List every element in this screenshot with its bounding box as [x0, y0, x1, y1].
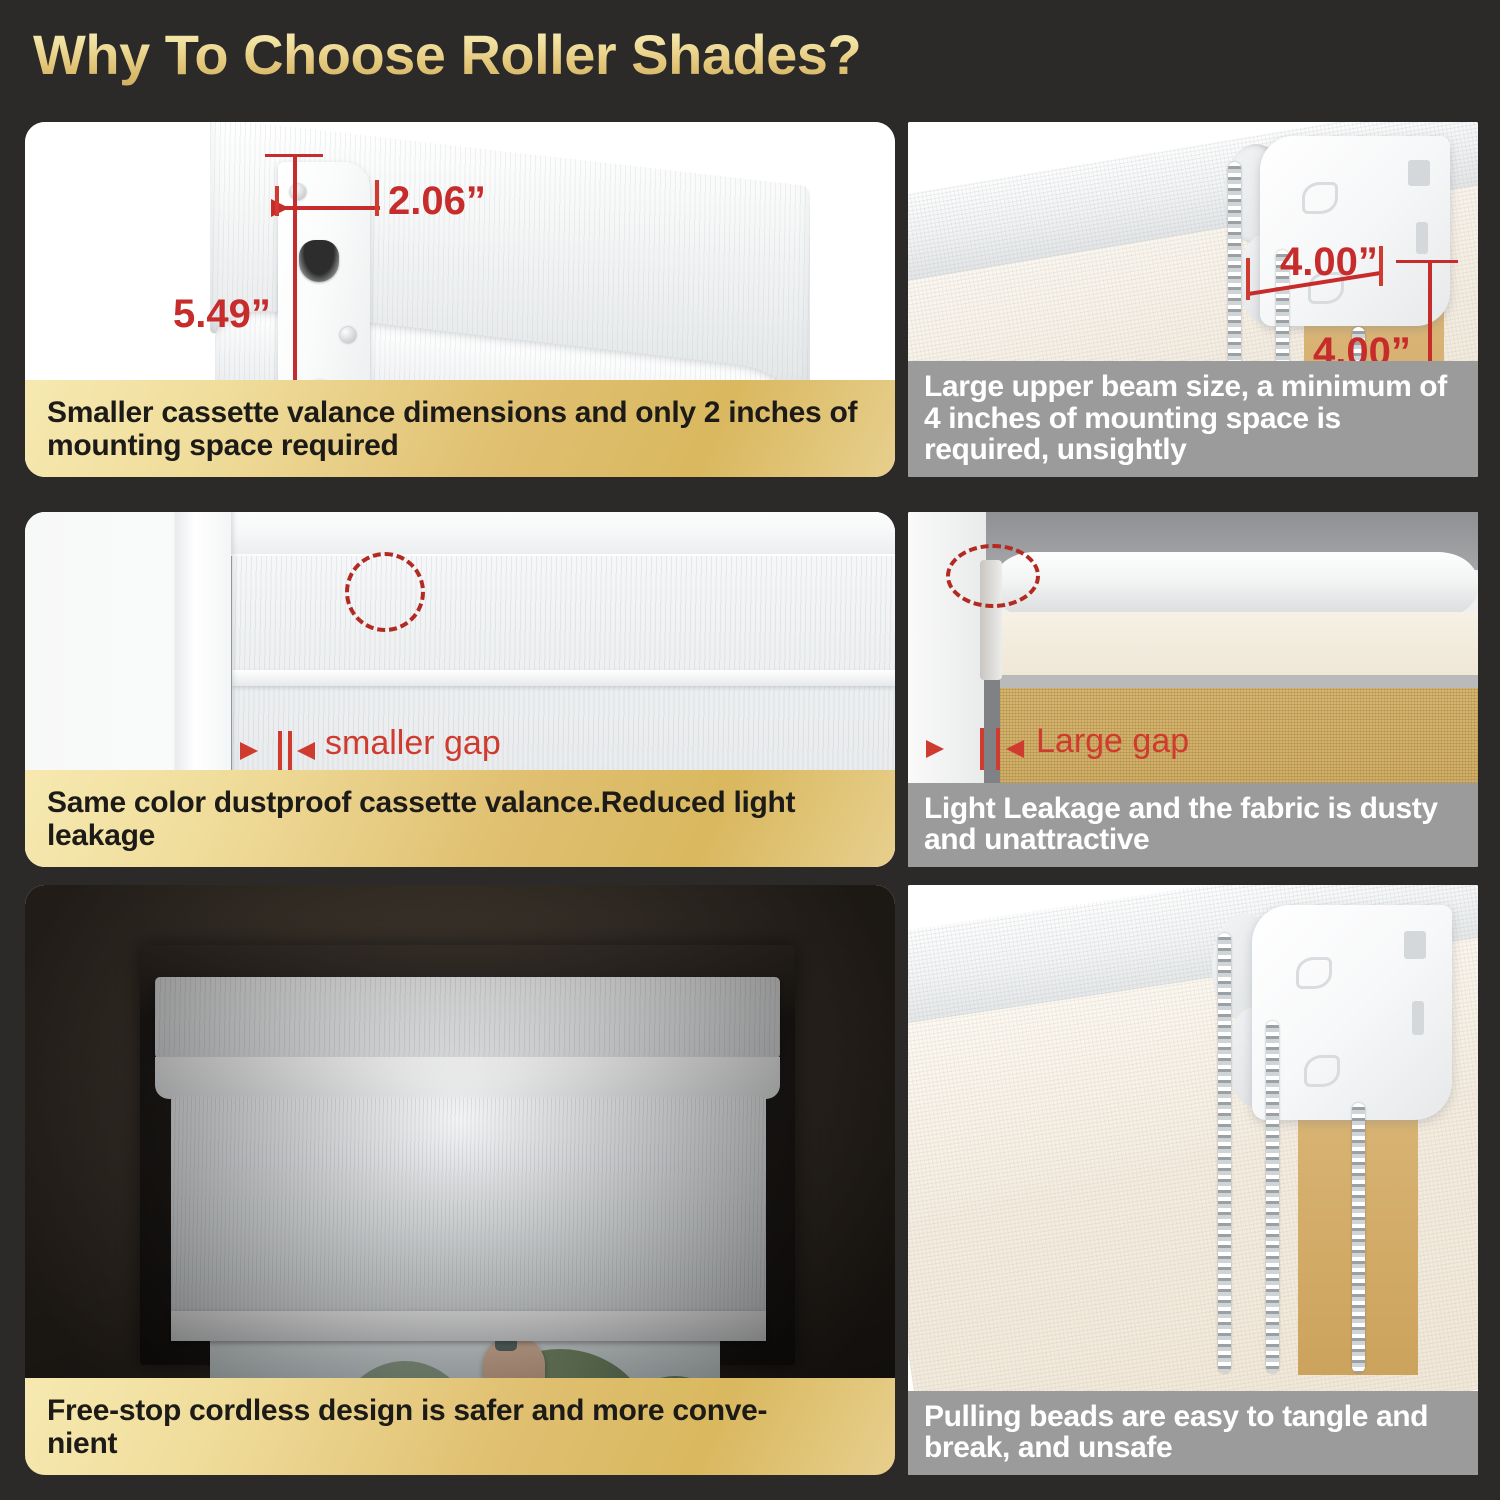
- bracket-notch-icon: [1412, 1001, 1424, 1035]
- panel-large-upper-beam: 4.00” 4.00” Large upper beam size, a min…: [908, 122, 1478, 477]
- panel-6-caption: Pulling beads are easy to tangle and bre…: [908, 1391, 1478, 1475]
- gap-tick: [996, 728, 1000, 770]
- valance-bottom-edge-graphic: [231, 670, 895, 686]
- panel-4-caption: Light Leakage and the fabric is dusty an…: [908, 783, 1478, 867]
- height-dimension-label: 5.49”: [173, 292, 271, 337]
- width-dimension-line: [275, 206, 380, 210]
- highlight-circle-icon: [946, 544, 1040, 608]
- panel-1-caption: Smaller cassette valance dimensions and …: [25, 380, 895, 477]
- gap-tick: [980, 728, 984, 770]
- width-dimension-tick: [275, 186, 279, 216]
- window-jamb-graphic: [175, 512, 231, 802]
- panel-5-caption-line1: Free-stop cordless design is safer and m…: [47, 1394, 767, 1427]
- gap-arrow-left-icon: [297, 742, 315, 760]
- cream-fabric-graphic: [998, 612, 1478, 678]
- gap-arrow-left-icon: [1006, 740, 1024, 758]
- height-dimension-tick-top: [1396, 260, 1458, 263]
- gap-tick: [288, 731, 292, 771]
- panel-2-caption: Large upper beam size, a minimum of 4 in…: [908, 361, 1478, 477]
- gap-arrow-right-icon: [926, 740, 944, 758]
- panel-3-caption: Same color dustproof cassette valance.Re…: [25, 770, 895, 867]
- roller-tube-graphic: [994, 552, 1478, 618]
- infographic-root: Why To Choose Roller Shades? 2.06” 5.49”: [0, 0, 1500, 1500]
- bead-chain-graphic: [1352, 1103, 1365, 1373]
- width-dimension-tick: [1379, 246, 1383, 286]
- bead-chain-graphic: [1266, 1021, 1279, 1373]
- width-dimension-label: 2.06”: [388, 179, 486, 224]
- bracket-emboss-icon: [1302, 182, 1338, 214]
- bracket-notch-icon: [1408, 160, 1430, 186]
- panel-6-image: [908, 885, 1478, 1475]
- width-dimension-label: 4.00”: [1280, 240, 1378, 285]
- gap-callout-label: Large gap: [1036, 722, 1189, 761]
- screw-icon: [340, 327, 356, 343]
- bracket-emboss-icon: [1296, 957, 1332, 989]
- window-head-graphic: [175, 512, 895, 554]
- panel-dustproof-cassette-valance: smaller gap Same color dustproof cassett…: [25, 512, 895, 867]
- panel-free-stop-cordless-design: Free-stop cordless design is safer and m…: [25, 885, 895, 1475]
- highlight-circle-icon: [345, 552, 425, 632]
- bead-chain-graphic: [1218, 933, 1231, 1373]
- panel-5-caption: Free-stop cordless design is safer and m…: [25, 1378, 895, 1475]
- roller-slot-graphic: [299, 240, 339, 282]
- panel-cassette-valance-dimensions: 2.06” 5.49” Smaller cassette valance dim…: [25, 122, 895, 477]
- bracket-notch-icon: [1404, 931, 1426, 959]
- height-dimension-tick-top: [265, 154, 323, 157]
- panel-light-leakage-dusty-fabric: Large gap Light Leakage and the fabric i…: [908, 512, 1478, 867]
- mounting-bracket-graphic: [1252, 905, 1452, 1120]
- bracket-emboss-icon: [1304, 1055, 1340, 1087]
- width-dimension-arrow-left: [271, 199, 289, 217]
- width-dimension-tick: [1246, 258, 1250, 300]
- page-title: Why To Choose Roller Shades?: [33, 22, 861, 87]
- panel-pulling-beads-tangle: Pulling beads are easy to tangle and bre…: [908, 885, 1478, 1475]
- bracket-notch-icon: [1416, 222, 1428, 254]
- gap-arrow-right-icon: [240, 742, 258, 760]
- fabric-shadow-graphic: [996, 675, 1478, 689]
- gap-callout-label: smaller gap: [325, 724, 501, 763]
- gap-tick: [278, 731, 282, 771]
- panel-5-caption-line2: nient: [47, 1427, 117, 1460]
- width-dimension-tick: [375, 180, 379, 216]
